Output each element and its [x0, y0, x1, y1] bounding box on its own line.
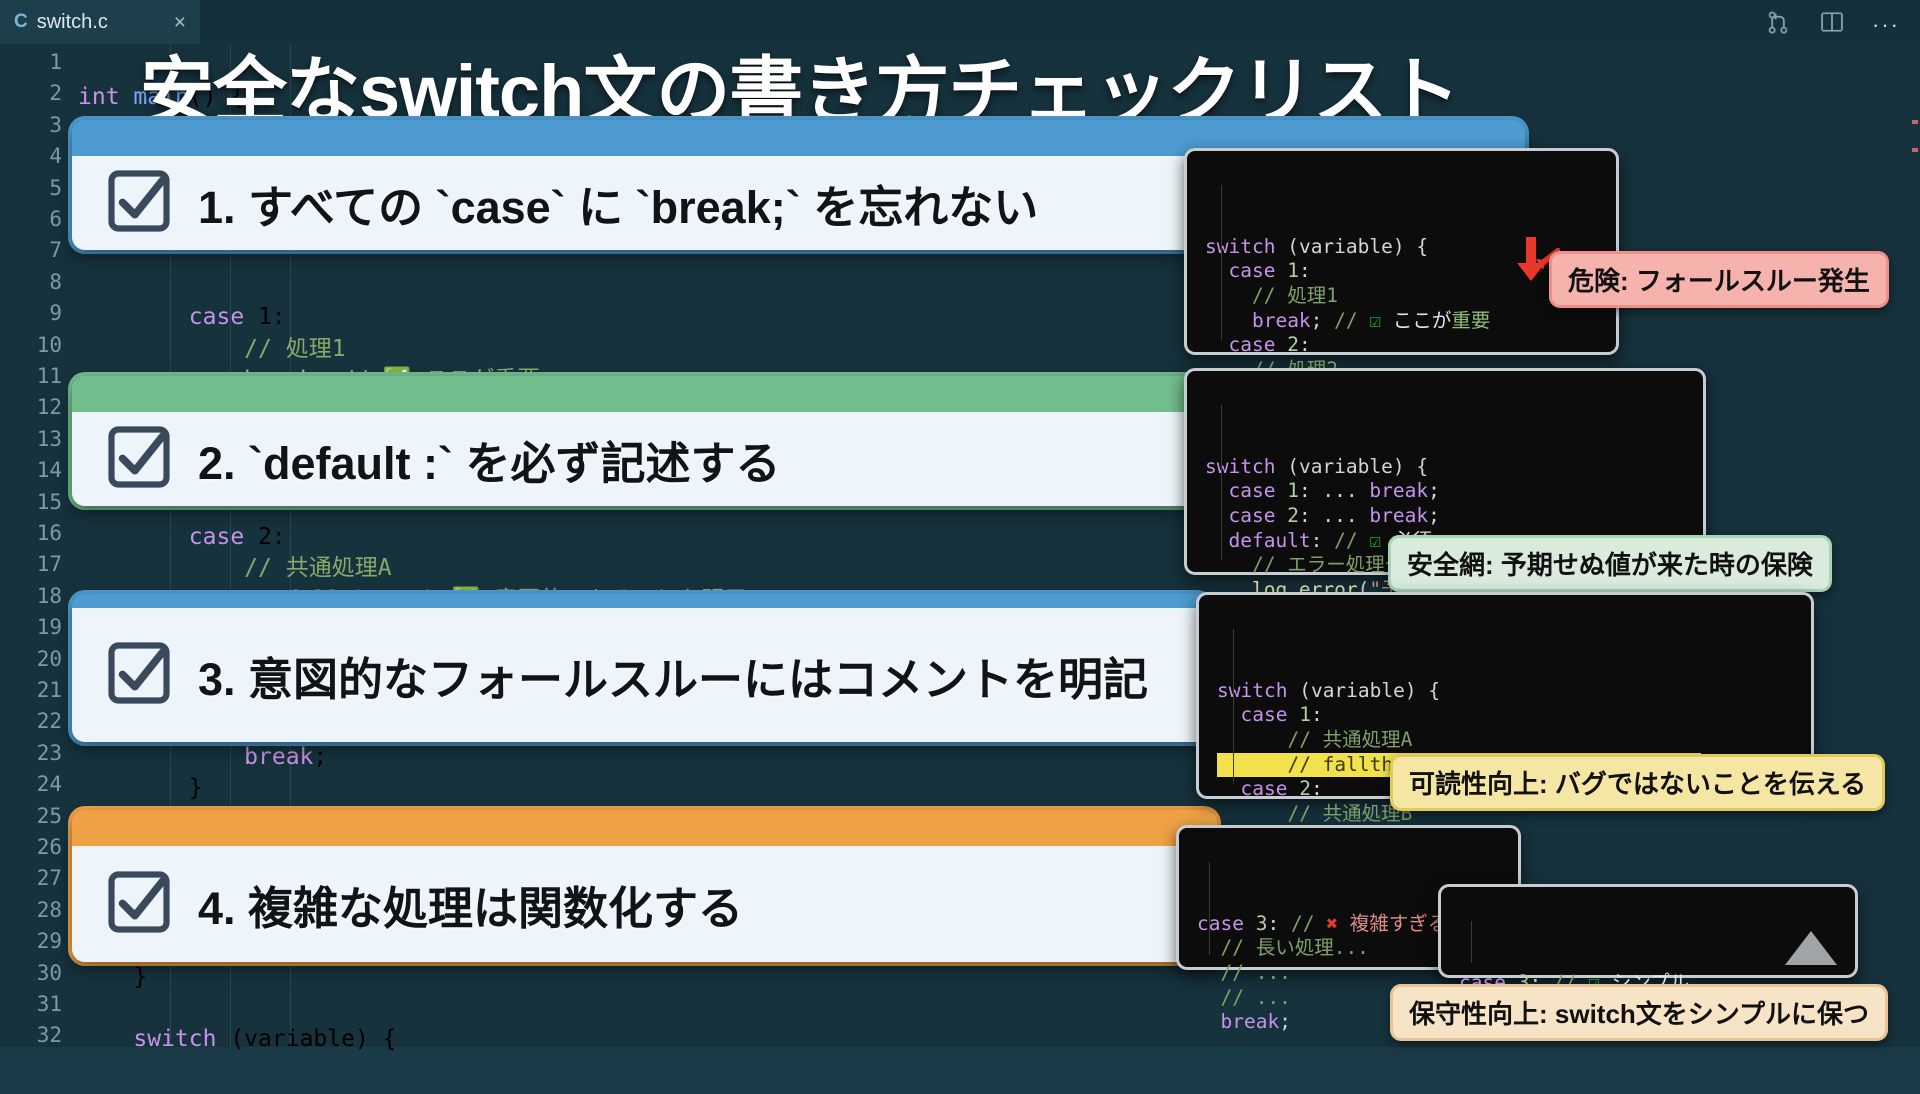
line-number: 31: [4, 992, 62, 1016]
watermark-triangle-icon: [1785, 931, 1837, 965]
callout-readability: 可読性向上: バグではないことを伝える: [1390, 754, 1885, 811]
line-number: 23: [4, 741, 62, 765]
line-number: 4: [4, 144, 62, 168]
tab-label: switch.c: [37, 11, 108, 34]
line-number: 15: [4, 490, 62, 514]
line-number: 5: [4, 176, 62, 200]
line-number: 13: [4, 427, 62, 451]
line-number: 22: [4, 709, 62, 733]
line-number: 30: [4, 961, 62, 985]
line-number: 9: [4, 301, 62, 325]
line-number: 14: [4, 458, 62, 482]
checkbox-checked-icon: [106, 640, 172, 711]
callout-danger-fallthrough: 危険: フォールスルー発生: [1549, 251, 1889, 308]
line-number: 11: [4, 364, 62, 388]
checklist-label: 3. 意図的なフォールスルーにはコメントを明記: [198, 643, 1148, 708]
scrollbar-decorations: [1912, 120, 1918, 240]
checklist-card-3[interactable]: 3. 意図的なフォールスルーにはコメントを明記: [72, 594, 1210, 742]
checklist-label: 1. すべての `case` に `break;` を忘れない: [198, 171, 1038, 236]
line-number: 27: [4, 866, 62, 890]
checklist-card-2[interactable]: 2. `default :` を必ず記述する: [72, 376, 1217, 506]
line-number: 28: [4, 898, 62, 922]
line-number: 25: [4, 804, 62, 828]
code-line: }: [78, 768, 203, 808]
close-icon[interactable]: ×: [174, 12, 186, 33]
line-number: 6: [4, 207, 62, 231]
line-number: 7: [4, 238, 62, 262]
code-line: switch (variable) {: [78, 1019, 397, 1059]
checkbox-checked-icon: [106, 869, 172, 940]
line-number: 32: [4, 1023, 62, 1047]
line-number: 16: [4, 521, 62, 545]
line-number: 24: [4, 772, 62, 796]
line-number: 20: [4, 647, 62, 671]
line-number: 12: [4, 395, 62, 419]
line-number: 19: [4, 615, 62, 639]
callout-maintainability: 保守性向上: switch文をシンプルに保つ: [1390, 984, 1888, 1041]
more-actions-icon[interactable]: ···: [1872, 14, 1900, 36]
line-number: 26: [4, 835, 62, 859]
checklist-card-4[interactable]: 4. 複雑な処理は関数化する: [72, 810, 1217, 962]
line-number: 29: [4, 929, 62, 953]
card-accent-bar: [72, 594, 1210, 608]
card-accent-bar: [72, 376, 1217, 412]
line-number: 18: [4, 584, 62, 608]
line-number: 21: [4, 678, 62, 702]
checklist-label: 4. 複雑な処理は関数化する: [198, 872, 743, 937]
card-accent-bar: [72, 810, 1217, 846]
code-line: }: [78, 957, 147, 997]
split-editor-icon[interactable]: [1818, 8, 1846, 41]
line-number: 10: [4, 333, 62, 357]
checkbox-checked-icon: [106, 424, 172, 495]
code-panel-4-good: case 3: // ☑ シンプル process_case_3(); // 関…: [1438, 884, 1858, 978]
line-number-gutter: 1234567891011121314151617181920212223242…: [0, 44, 70, 1047]
line-number: 8: [4, 270, 62, 294]
checkbox-checked-icon: [106, 168, 172, 239]
c-file-icon: C: [14, 11, 28, 33]
line-number: 17: [4, 552, 62, 576]
callout-safety-net: 安全網: 予期せぬ値が来た時の保険: [1388, 535, 1832, 592]
checklist-label: 2. `default :` を必ず記述する: [198, 427, 781, 492]
